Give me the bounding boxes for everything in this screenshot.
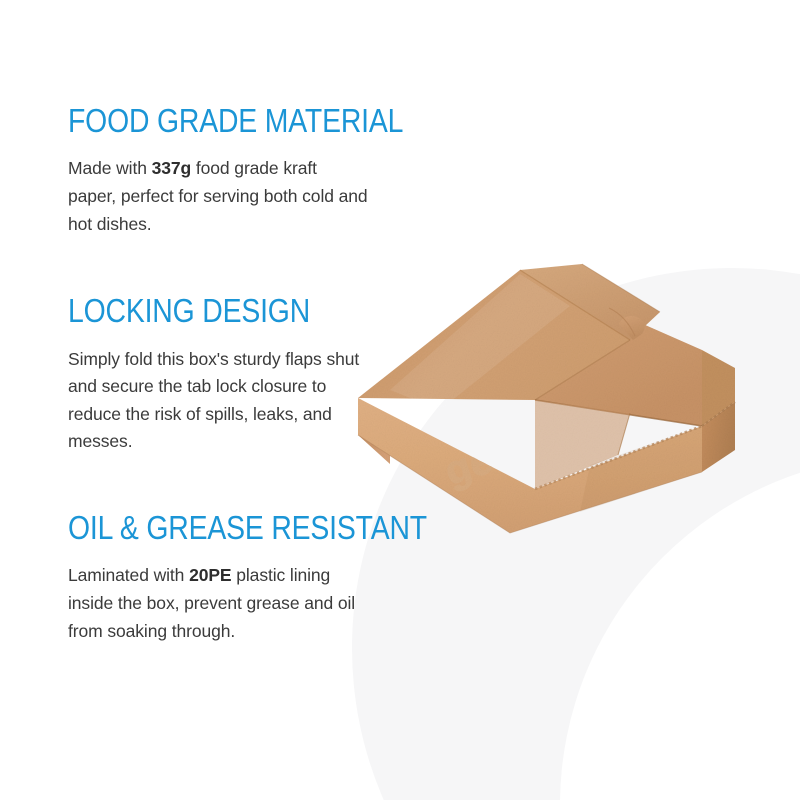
feature-heading: OIL & GREASE RESISTANT	[68, 511, 352, 545]
feature-heading: LOCKING DESIGN	[68, 294, 352, 328]
feature-body: Simply fold this box's sturdy flaps shut…	[68, 346, 368, 457]
feature-list: FOOD GRADE MATERIAL Made with 337g food …	[68, 104, 398, 645]
feature-body-text-1: Simply fold this box's sturdy flaps shut…	[68, 349, 359, 452]
feature-oil-grease-resistant: OIL & GREASE RESISTANT Laminated with 20…	[68, 511, 398, 645]
feature-body-emphasis-337g: 337g	[152, 158, 192, 178]
feature-heading: FOOD GRADE MATERIAL	[68, 104, 352, 138]
feature-body: Made with 337g food grade kraft paper, p…	[68, 155, 368, 238]
feature-body: Laminated with 20PE plastic lining insid…	[68, 562, 368, 645]
feature-food-grade-material: FOOD GRADE MATERIAL Made with 337g food …	[68, 104, 398, 238]
feature-body-text-1: Laminated with	[68, 565, 189, 585]
infographic-page: genconnect genconnect	[0, 0, 800, 800]
feature-locking-design: LOCKING DESIGN Simply fold this box's st…	[68, 294, 398, 456]
feature-body-emphasis-20pe: 20PE	[189, 565, 231, 585]
feature-body-text-1: Made with	[68, 158, 152, 178]
